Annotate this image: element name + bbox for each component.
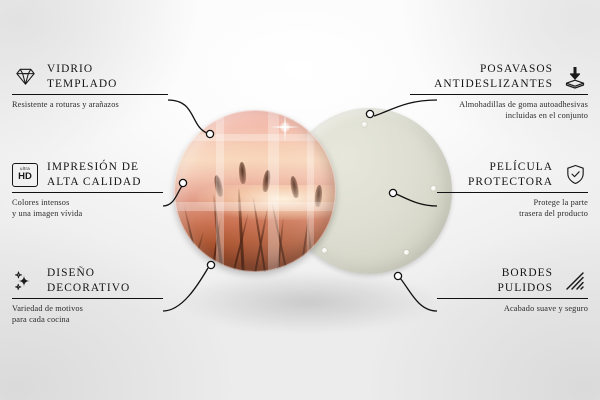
feature-title: VIDRIO TEMPLADO	[47, 62, 117, 91]
feature-title-line1: IMPRESIÓN DE	[47, 160, 141, 175]
feature-subtitle-line1: Almohadillas de goma autoadhesivas	[348, 99, 588, 110]
feature-subtitle-line1: Variedad de motivos	[12, 303, 252, 314]
feature-subtitle: Acabado suave y seguro	[348, 303, 588, 314]
feature-title-line2: PROTECTORA	[468, 175, 553, 190]
feature-subtitle-line2: trasera del producto	[348, 208, 588, 219]
diagonal-lines-icon	[562, 268, 588, 294]
feature-subtitle-line1: Acabado suave y seguro	[348, 303, 588, 314]
feature-subtitle-line1: Resistente a roturas y arañazos	[12, 99, 252, 110]
feature-subtitle-line1: Protege la parte	[348, 197, 588, 208]
feature-tempered-glass: VIDRIO TEMPLADO Resistente a roturas y a…	[12, 62, 252, 110]
feature-subtitle-line1: Colores intensos	[12, 197, 252, 208]
ultra-hd-badge-icon: ultra HD	[12, 162, 38, 188]
infographic-canvas: VIDRIO TEMPLADO Resistente a roturas y a…	[0, 0, 600, 400]
feature-title: POSAVASOS ANTIDESLIZANTES	[434, 62, 553, 91]
feature-subtitle-line2: incluidas en el conjunto	[348, 110, 588, 121]
feature-divider	[12, 94, 168, 95]
feature-subtitle: Protege la parte trasera del producto	[348, 197, 588, 219]
feature-subtitle-line2: y una imagen vívida	[12, 208, 252, 219]
shield-check-icon	[562, 162, 588, 188]
feature-protective-film: PELÍCULA PROTECTORA Protege la parte tra…	[348, 160, 588, 219]
feature-divider	[410, 94, 588, 95]
connector-node	[206, 130, 213, 137]
feature-high-quality-print: ultra HD IMPRESIÓN DE ALTA CALIDAD Color…	[12, 160, 252, 219]
feature-divider	[12, 298, 163, 299]
feature-title: IMPRESIÓN DE ALTA CALIDAD	[47, 160, 141, 189]
feature-title-line2: ALTA CALIDAD	[47, 175, 141, 190]
feature-title-line1: DISEÑO	[47, 266, 130, 281]
feature-title: BORDES PULIDOS	[498, 266, 553, 295]
feature-title-line2: ANTIDESLIZANTES	[434, 77, 553, 92]
feature-non-slip-coasters: POSAVASOS ANTIDESLIZANTES Almohadillas d…	[348, 62, 588, 121]
sparkles-icon	[12, 268, 38, 294]
feature-subtitle: Resistente a roturas y arañazos	[12, 99, 252, 110]
feature-decorative-design: DISEÑO DECORATIVO Variedad de motivos pa…	[12, 266, 252, 325]
feature-title-line2: DECORATIVO	[47, 281, 130, 296]
feature-divider	[437, 192, 588, 193]
feature-title-line1: PELÍCULA	[468, 160, 553, 175]
feature-subtitle: Colores intensos y una imagen vívida	[12, 197, 252, 219]
feature-subtitle: Variedad de motivos para cada cocina	[12, 303, 252, 325]
feature-title-line1: VIDRIO	[47, 62, 117, 77]
feature-divider	[437, 298, 588, 299]
feature-title: DISEÑO DECORATIVO	[47, 266, 130, 295]
feature-title-line2: PULIDOS	[498, 281, 553, 296]
press-down-pad-icon	[562, 64, 588, 90]
feature-title: PELÍCULA PROTECTORA	[468, 160, 553, 189]
feature-subtitle: Almohadillas de goma autoadhesivas inclu…	[348, 99, 588, 121]
ultra-hd-large-label: HD	[18, 172, 32, 182]
feature-polished-edges: BORDES PULIDOS Acabado suave y seguro	[348, 266, 588, 314]
feature-title-line1: BORDES	[498, 266, 553, 281]
feature-title-line1: POSAVASOS	[434, 62, 553, 77]
diamond-icon	[12, 64, 38, 90]
feature-title-line2: TEMPLADO	[47, 77, 117, 92]
feature-divider	[12, 192, 163, 193]
feature-subtitle-line2: para cada cocina	[12, 314, 252, 325]
